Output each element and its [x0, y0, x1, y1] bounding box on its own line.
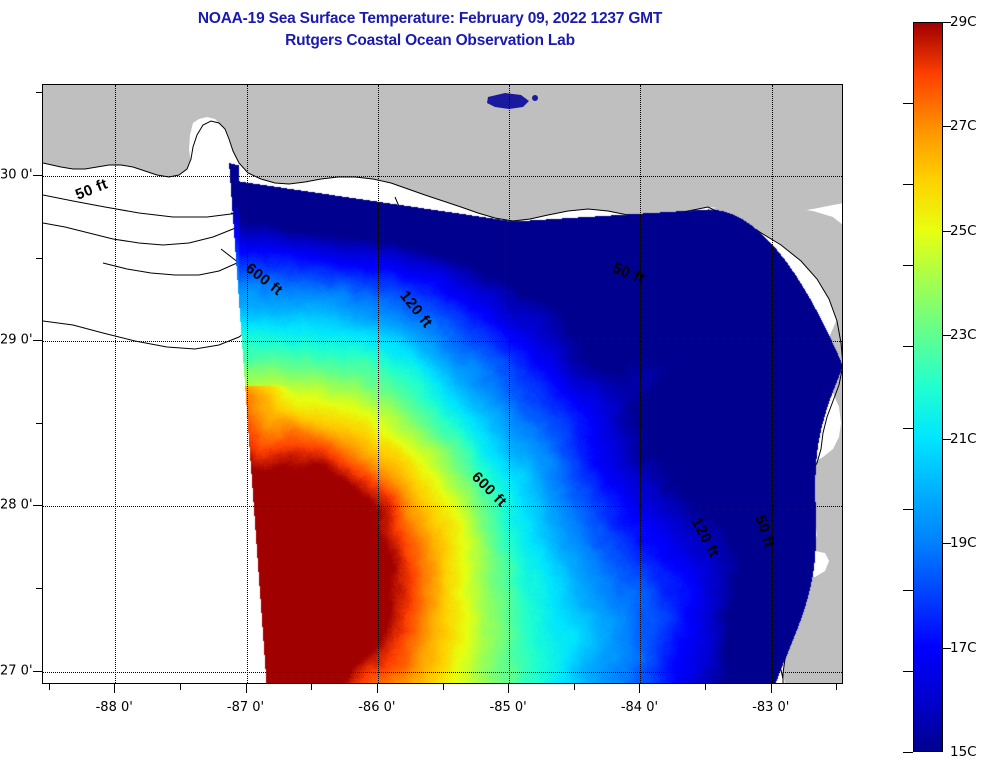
- gridline-horizontal: [43, 176, 842, 177]
- axis-tick-x: [443, 684, 444, 690]
- colorbar-tick: [943, 543, 951, 544]
- axis-tick-y: [33, 671, 42, 672]
- axis-tick-x: [705, 684, 706, 690]
- axis-label-y: 27 0': [0, 663, 30, 678]
- sst-map-plot: 50 ft600 ft120 ft50 ft600 ft120 ft50 ft: [42, 84, 843, 684]
- gridline-vertical: [115, 85, 116, 683]
- temperature-colorbar: [913, 22, 943, 752]
- gridline-horizontal: [43, 506, 842, 507]
- axis-label-x: -87 0': [227, 700, 264, 715]
- gridline-vertical: [247, 85, 248, 683]
- colorbar-tick: [903, 346, 913, 347]
- axis-label-y: 29 0': [0, 333, 30, 348]
- sst-raster: [43, 85, 843, 684]
- title-line-2: Rutgers Coastal Ocean Observation Lab: [0, 30, 860, 52]
- axis-label-x: -86 0': [358, 700, 395, 715]
- colorbar-tick: [943, 335, 951, 336]
- axis-tick-y: [33, 340, 42, 341]
- axis-tick-x: [639, 684, 640, 693]
- axis-tick-x: [836, 684, 837, 690]
- colorbar-label-celsius: 15C: [950, 744, 977, 760]
- colorbar-label-celsius: 23C: [950, 327, 977, 343]
- colorbar-tick: [903, 752, 913, 753]
- axis-tick-x: [49, 684, 50, 690]
- axis-tick-x: [508, 684, 509, 693]
- axis-label-x: -85 0': [490, 700, 527, 715]
- page-title: NOAA-19 Sea Surface Temperature: Februar…: [0, 8, 860, 52]
- gridline-vertical: [509, 85, 510, 683]
- gridline-horizontal: [43, 672, 842, 673]
- colorbar-tick: [903, 265, 913, 266]
- colorbar-label-celsius: 29C: [950, 14, 977, 30]
- colorbar-tick: [943, 22, 951, 23]
- axis-label-x: -88 0': [96, 700, 133, 715]
- axis-tick-y: [33, 505, 42, 506]
- axis-tick-y: [36, 92, 42, 93]
- colorbar-label-celsius: 17C: [950, 640, 977, 656]
- colorbar-tick: [943, 648, 951, 649]
- axis-label-y: 28 0': [0, 498, 30, 513]
- colorbar-tick: [903, 103, 913, 104]
- colorbar-tick: [903, 671, 913, 672]
- axis-label-x: -84 0': [621, 700, 658, 715]
- gridline-vertical: [772, 85, 773, 683]
- gridline-vertical: [378, 85, 379, 683]
- gridline-horizontal: [43, 341, 842, 342]
- axis-tick-x: [771, 684, 772, 693]
- colorbar-label-celsius: 19C: [950, 535, 977, 551]
- axis-tick-x: [311, 684, 312, 690]
- title-line-1: NOAA-19 Sea Surface Temperature: Februar…: [0, 8, 860, 30]
- axis-tick-y: [36, 588, 42, 589]
- axis-tick-x: [180, 684, 181, 690]
- axis-tick-x: [114, 684, 115, 693]
- colorbar-gradient: [914, 23, 942, 751]
- colorbar-label-celsius: 27C: [950, 118, 977, 134]
- axis-tick-y: [36, 258, 42, 259]
- colorbar-label-celsius: 21C: [950, 431, 977, 447]
- axis-tick-y: [36, 423, 42, 424]
- axis-tick-x: [246, 684, 247, 693]
- axis-tick-x: [574, 684, 575, 690]
- colorbar-tick: [903, 509, 913, 510]
- axis-label-x: -83 0': [752, 700, 789, 715]
- axis-tick-x: [377, 684, 378, 693]
- colorbar-tick: [943, 439, 951, 440]
- gridline-vertical: [640, 85, 641, 683]
- colorbar-label-celsius: 25C: [950, 223, 977, 239]
- axis-tick-y: [33, 175, 42, 176]
- colorbar-tick: [903, 428, 913, 429]
- axis-label-y: 30 0': [0, 167, 30, 182]
- colorbar-tick: [903, 590, 913, 591]
- colorbar-tick: [943, 231, 951, 232]
- colorbar-tick: [943, 126, 951, 127]
- colorbar-tick: [903, 184, 913, 185]
